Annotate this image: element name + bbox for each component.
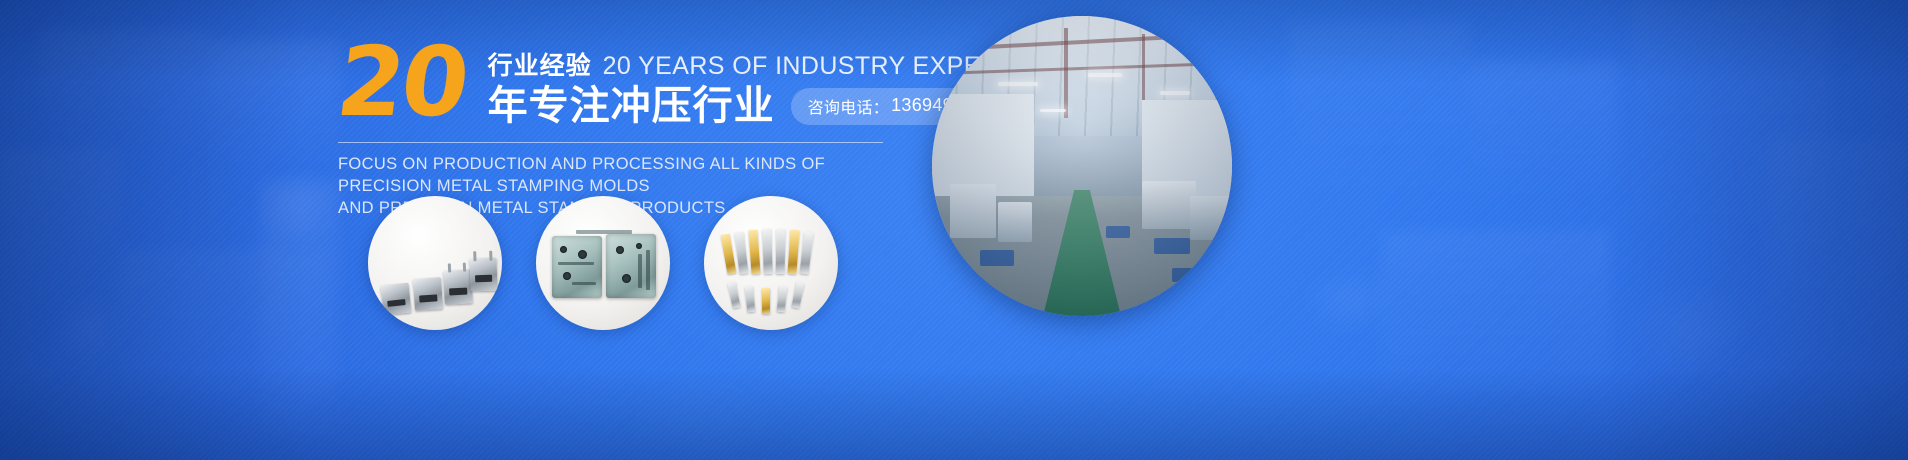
connector-part (413, 277, 443, 311)
banner-copy-block: 20 行业经验 20 YEARS OF INDUSTRY EXPERIENCE … (338, 36, 898, 219)
connector-pin (473, 251, 476, 261)
product-image-terminals (704, 196, 838, 330)
connector-part (381, 283, 412, 316)
promo-banner: 20 行业经验 20 YEARS OF INDUSTRY EXPERIENCE … (0, 0, 1908, 460)
mold-half-right (606, 234, 656, 298)
mold-hole (622, 274, 631, 283)
years-number: 20 (333, 40, 471, 124)
mold-hole (636, 243, 642, 249)
terminal-pin (762, 288, 770, 314)
mold-rib (572, 282, 596, 285)
mold-hole (563, 272, 571, 280)
connector-slot (387, 299, 406, 307)
mold-rib (646, 250, 650, 290)
headline-cn-experience: 行业经验 (488, 46, 592, 82)
mold-hole (578, 250, 587, 259)
terminal-pin (776, 229, 786, 274)
product-image-connectors (368, 196, 502, 330)
mold-rib (638, 254, 642, 288)
mold-hole (560, 246, 567, 253)
mold-half-left (552, 236, 602, 298)
factory-shading (932, 16, 1232, 316)
headline-cn-stamping: 年专注冲压行业 (488, 84, 775, 128)
connector-slot (475, 275, 493, 283)
phone-label: 咨询电话： (808, 94, 890, 118)
headline-divider (338, 142, 883, 143)
mold-rib (558, 262, 594, 265)
connector-pin (463, 263, 466, 272)
connector-pin (448, 263, 451, 272)
subtitle-line-1: FOCUS ON PRODUCTION AND PROCESSING ALL K… (338, 154, 898, 198)
connector-pin (489, 251, 492, 261)
factory-photo (932, 16, 1232, 316)
headline-row: 20 行业经验 20 YEARS OF INDUSTRY EXPERIENCE … (338, 36, 898, 128)
connector-part (469, 258, 497, 292)
product-image-mold (536, 196, 670, 330)
connector-slot (419, 294, 437, 302)
connector-slot (449, 287, 467, 295)
connector-part (443, 269, 473, 304)
terminal-pin (762, 229, 773, 274)
mold-parting-line (576, 230, 632, 234)
mold-hole (616, 246, 624, 254)
